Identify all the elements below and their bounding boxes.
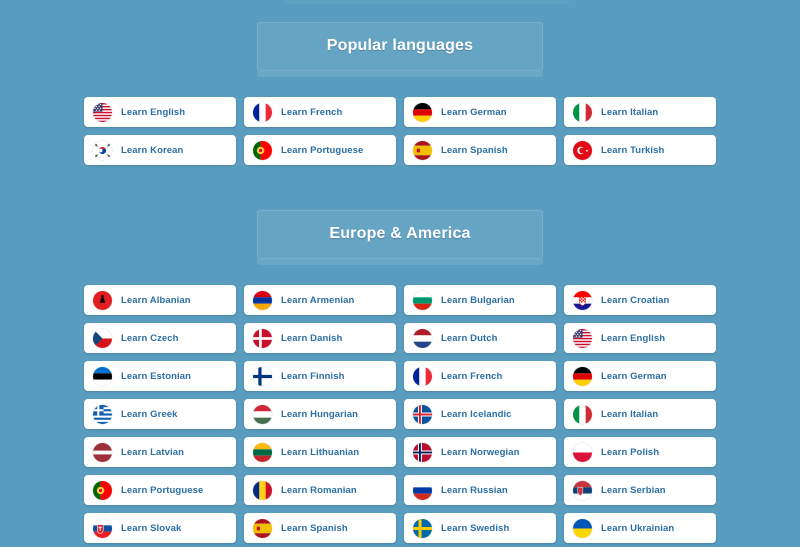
flag-sk-icon xyxy=(93,519,112,538)
language-card-label: Learn Greek xyxy=(121,409,178,420)
language-card-label: Learn Korean xyxy=(121,145,183,156)
flag-it-icon xyxy=(573,405,592,424)
language-card-label: Learn Icelandic xyxy=(441,409,512,420)
language-card[interactable]: Learn Romanian xyxy=(244,475,396,505)
language-card-label: Learn Portuguese xyxy=(281,145,363,156)
language-card[interactable]: Learn Greek xyxy=(84,399,236,429)
language-card-label: Learn Latvian xyxy=(121,447,184,458)
language-card[interactable]: Learn French xyxy=(404,361,556,391)
flag-pt-icon xyxy=(93,481,112,500)
language-card[interactable]: Learn Portuguese xyxy=(244,135,396,165)
language-card[interactable]: Learn Albanian xyxy=(84,285,236,315)
language-card[interactable]: Learn Armenian xyxy=(244,285,396,315)
language-card[interactable]: Learn Danish xyxy=(244,323,396,353)
language-card-label: Learn Finnish xyxy=(281,371,345,382)
language-card-label: Learn Estonian xyxy=(121,371,191,382)
flag-hu-icon xyxy=(253,405,272,424)
language-card[interactable]: Learn Hungarian xyxy=(244,399,396,429)
language-card[interactable]: Learn Dutch xyxy=(404,323,556,353)
flag-de-icon xyxy=(413,103,432,122)
language-card-label: Learn Dutch xyxy=(441,333,498,344)
language-card-label: Learn Danish xyxy=(281,333,342,344)
language-card-label: Learn Lithuanian xyxy=(281,447,359,458)
section-europe-america: Europe & America Learn AlbanianLearn Arm… xyxy=(0,165,800,543)
flag-hr-icon xyxy=(573,291,592,310)
language-card-label: Learn Albanian xyxy=(121,295,191,306)
flag-fr-icon xyxy=(413,367,432,386)
language-card[interactable]: Learn Norwegian xyxy=(404,437,556,467)
flag-tr-icon xyxy=(573,141,592,160)
language-grid-popular: Learn EnglishLearn FrenchLearn GermanLea… xyxy=(0,77,800,165)
flag-es-icon xyxy=(253,519,272,538)
language-card[interactable]: Learn Serbian xyxy=(564,475,716,505)
flag-gr-icon xyxy=(93,405,112,424)
language-card[interactable]: Learn Turkish xyxy=(564,135,716,165)
flag-nl-icon xyxy=(413,329,432,348)
language-card-label: Learn Armenian xyxy=(281,295,354,306)
flag-lt-icon xyxy=(253,443,272,462)
language-card-label: Learn Serbian xyxy=(601,485,666,496)
language-card-label: Learn Turkish xyxy=(601,145,664,156)
language-card[interactable]: Learn Spanish xyxy=(404,135,556,165)
language-card-label: Learn Italian xyxy=(601,107,658,118)
language-grid-europe: Learn AlbanianLearn ArmenianLearn Bulgar… xyxy=(0,265,800,543)
flag-is-icon xyxy=(413,405,432,424)
language-card[interactable]: Learn English xyxy=(564,323,716,353)
language-card-label: Learn Swedish xyxy=(441,523,509,534)
flag-fi-icon xyxy=(253,367,272,386)
flag-pl-icon xyxy=(573,443,592,462)
flag-fr-icon xyxy=(253,103,272,122)
language-card-label: Learn Czech xyxy=(121,333,179,344)
language-card-label: Learn Slovak xyxy=(121,523,181,534)
flag-us-icon xyxy=(93,103,112,122)
language-card-label: Learn English xyxy=(121,107,185,118)
language-card-label: Learn French xyxy=(441,371,502,382)
flag-ua-icon xyxy=(573,519,592,538)
flag-ru-icon xyxy=(413,481,432,500)
language-card[interactable]: Learn German xyxy=(564,361,716,391)
language-card[interactable]: Learn Korean xyxy=(84,135,236,165)
flag-am-icon xyxy=(253,291,272,310)
language-card-label: Learn Romanian xyxy=(281,485,357,496)
language-card[interactable]: Learn Czech xyxy=(84,323,236,353)
flag-pt-icon xyxy=(253,141,272,160)
language-card-label: Learn Spanish xyxy=(441,145,508,156)
flag-rs-icon xyxy=(573,481,592,500)
language-card-label: Learn Spanish xyxy=(281,523,348,534)
language-card-label: Learn Italian xyxy=(601,409,658,420)
language-card-label: Learn Bulgarian xyxy=(441,295,515,306)
language-card[interactable]: Learn Bulgarian xyxy=(404,285,556,315)
language-card[interactable]: Learn Italian xyxy=(564,399,716,429)
section-popular-languages: Popular languages Learn EnglishLearn Fre… xyxy=(0,0,800,165)
language-card-label: Learn English xyxy=(601,333,665,344)
language-card-label: Learn German xyxy=(441,107,507,118)
section-title-popular: Popular languages xyxy=(257,22,543,71)
language-card[interactable]: Learn Estonian xyxy=(84,361,236,391)
language-card[interactable]: Learn Russian xyxy=(404,475,556,505)
flag-ee-icon xyxy=(93,367,112,386)
language-card[interactable]: Learn Ukrainian xyxy=(564,513,716,543)
section-title-europe: Europe & America xyxy=(257,210,543,259)
language-card-label: Learn Portuguese xyxy=(121,485,203,496)
language-card-label: Learn Ukrainian xyxy=(601,523,674,534)
flag-es-icon xyxy=(413,141,432,160)
language-card-label: Learn German xyxy=(601,371,667,382)
language-card[interactable]: Learn Slovak xyxy=(84,513,236,543)
language-card[interactable]: Learn Swedish xyxy=(404,513,556,543)
flag-cz-icon xyxy=(93,329,112,348)
flag-bg-icon xyxy=(413,291,432,310)
flag-us-icon xyxy=(573,329,592,348)
language-card[interactable]: Learn Lithuanian xyxy=(244,437,396,467)
language-card[interactable]: Learn Latvian xyxy=(84,437,236,467)
language-card[interactable]: Learn Polish xyxy=(564,437,716,467)
language-card-label: Learn Polish xyxy=(601,447,659,458)
flag-no-icon xyxy=(413,443,432,462)
flag-al-icon xyxy=(93,291,112,310)
language-card[interactable]: Learn Icelandic xyxy=(404,399,556,429)
flag-de-icon xyxy=(573,367,592,386)
language-card-label: Learn Croatian xyxy=(601,295,669,306)
flag-lv-icon xyxy=(93,443,112,462)
flag-dk-icon xyxy=(253,329,272,348)
language-card[interactable]: Learn Portuguese xyxy=(84,475,236,505)
language-card-label: Learn Norwegian xyxy=(441,447,520,458)
flag-se-icon xyxy=(413,519,432,538)
language-card[interactable]: Learn Italian xyxy=(564,97,716,127)
flag-kr-icon xyxy=(93,141,112,160)
flag-ro-icon xyxy=(253,481,272,500)
language-card-label: Learn French xyxy=(281,107,342,118)
language-card[interactable]: Learn Croatian xyxy=(564,285,716,315)
language-card[interactable]: Learn English xyxy=(84,97,236,127)
language-picker-page: Popular languages Learn EnglishLearn Fre… xyxy=(0,0,800,547)
language-card[interactable]: Learn Finnish xyxy=(244,361,396,391)
language-card-label: Learn Russian xyxy=(441,485,508,496)
language-card-label: Learn Hungarian xyxy=(281,409,358,420)
flag-it-icon xyxy=(573,103,592,122)
language-card[interactable]: Learn Spanish xyxy=(244,513,396,543)
language-card[interactable]: Learn German xyxy=(404,97,556,127)
top-cutoff-panel xyxy=(283,0,569,4)
language-card[interactable]: Learn French xyxy=(244,97,396,127)
